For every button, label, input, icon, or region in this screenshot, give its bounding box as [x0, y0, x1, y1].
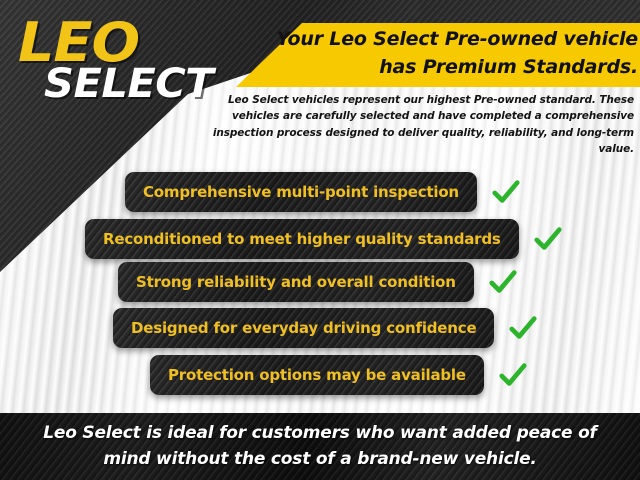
check-icon [498, 360, 528, 390]
feature-pill-3[interactable]: Strong reliability and overall condition [118, 262, 474, 302]
check-icon [508, 313, 538, 343]
feature-pill-3-label: Strong reliability and overall condition [136, 273, 456, 291]
feature-row-4: Designed for everyday driving confidence [113, 308, 538, 348]
logo-word-select: SELECT [44, 64, 213, 104]
feature-pill-1[interactable]: Comprehensive multi-point inspection [125, 172, 477, 212]
feature-row-5: Protection options may be available [150, 355, 528, 395]
check-icon [488, 267, 518, 297]
brand-logo: LEO SELECT [18, 16, 207, 104]
footer-line-2: mind without the cost of a brand-new veh… [20, 447, 620, 473]
footer-line-1: Leo Select is ideal for customers who wa… [20, 421, 620, 447]
headline-line-1: Your Leo Select Pre-owned vehicle [250, 26, 638, 54]
feature-pill-4[interactable]: Designed for everyday driving confidence [113, 308, 494, 348]
headline-line-2: has Premium Standards. [250, 54, 638, 82]
feature-pill-5-label: Protection options may be available [168, 366, 466, 384]
check-icon [491, 177, 521, 207]
promo-slide: LEO SELECT Your Leo Select Pre-owned veh… [0, 0, 640, 480]
subcopy-paragraph: Leo Select vehicles represent our highes… [206, 92, 634, 157]
feature-pill-5[interactable]: Protection options may be available [150, 355, 484, 395]
feature-pill-1-label: Comprehensive multi-point inspection [143, 183, 459, 201]
headline: Your Leo Select Pre-owned vehicle has Pr… [250, 26, 638, 81]
feature-pill-2-label: Reconditioned to meet higher quality sta… [103, 230, 501, 248]
feature-pill-2[interactable]: Reconditioned to meet higher quality sta… [85, 219, 519, 259]
check-icon [533, 224, 563, 254]
footer-text: Leo Select is ideal for customers who wa… [20, 421, 620, 472]
feature-pill-4-label: Designed for everyday driving confidence [131, 319, 476, 337]
feature-row-1: Comprehensive multi-point inspection [125, 172, 521, 212]
footer-banner: Leo Select is ideal for customers who wa… [0, 413, 640, 480]
feature-row-3: Strong reliability and overall condition [118, 262, 518, 302]
feature-row-2: Reconditioned to meet higher quality sta… [85, 219, 563, 259]
